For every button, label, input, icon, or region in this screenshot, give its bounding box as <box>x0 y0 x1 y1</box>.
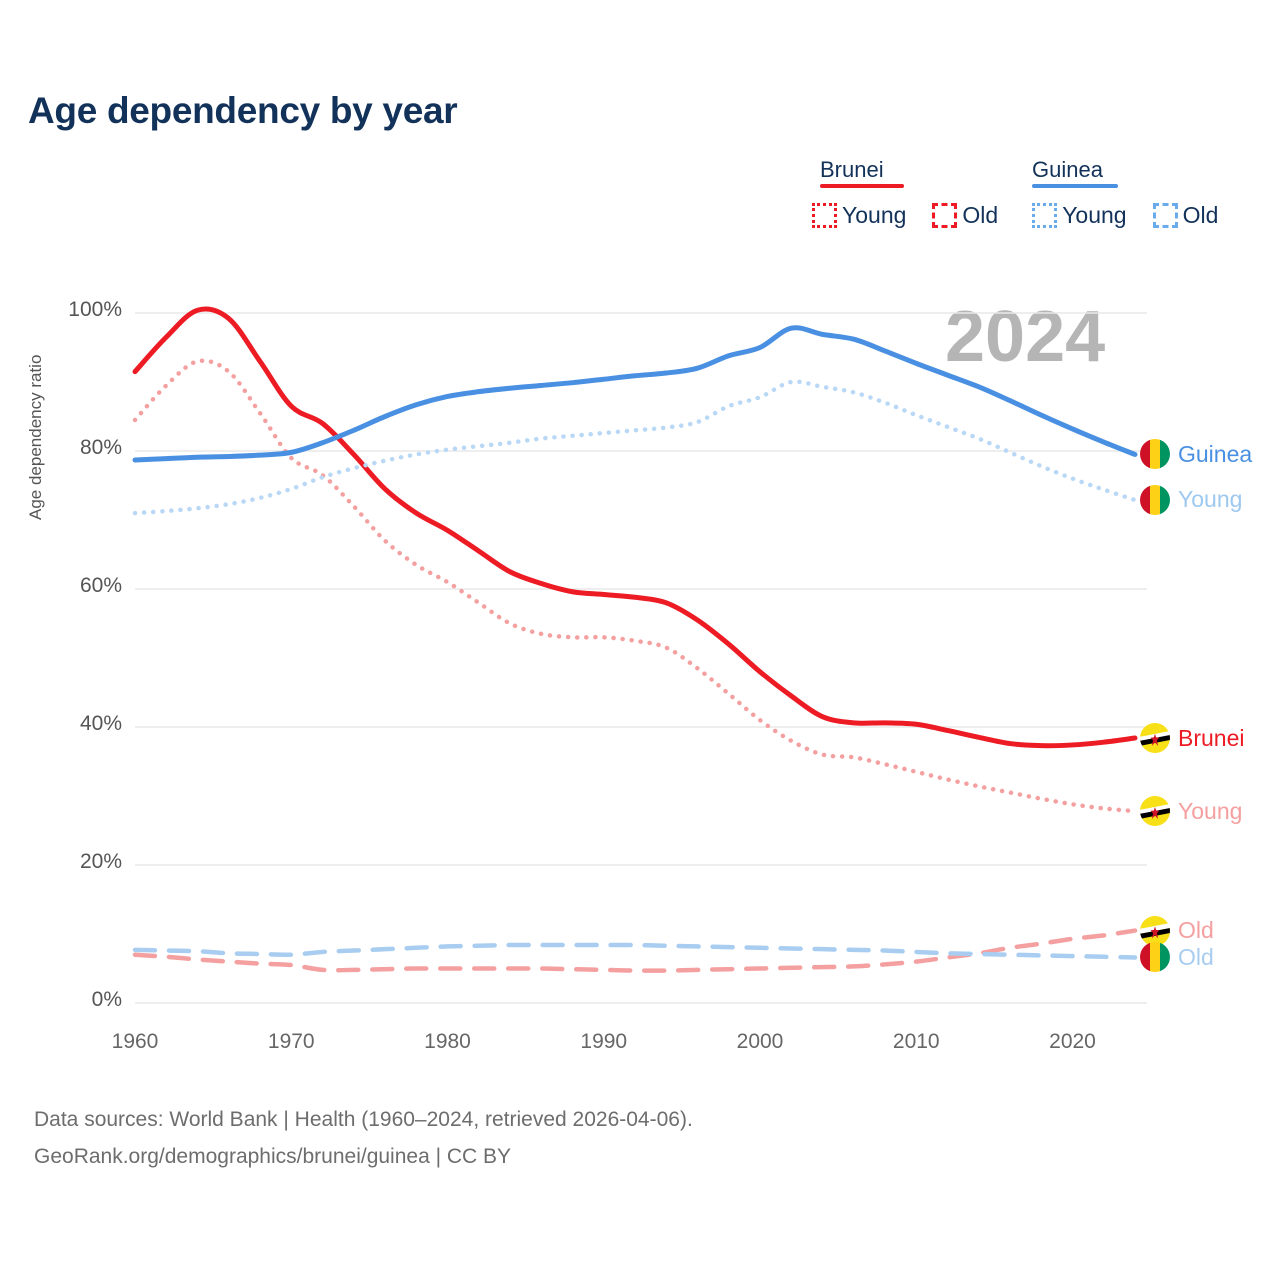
brunei-flag-icon <box>1140 916 1170 946</box>
end-label-guinea-old[interactable]: Old <box>1140 942 1214 972</box>
end-label-brunei-total[interactable]: Brunei <box>1140 723 1244 753</box>
plot-area: Age dependency ratio 2024 0%20%40%60%80%… <box>0 0 1280 1280</box>
footer: Data sources: World Bank | Health (1960–… <box>34 1102 693 1176</box>
chart-canvas <box>0 0 1280 1280</box>
series-line-brunei-old <box>135 931 1135 971</box>
end-label-guinea-total[interactable]: Guinea <box>1140 439 1252 469</box>
guinea-flag-icon <box>1140 942 1170 972</box>
footer-line-2: GeoRank.org/demographics/brunei/guinea |… <box>34 1139 693 1176</box>
series-line-guinea-total <box>135 328 1135 460</box>
end-label-guinea-total-text: Guinea <box>1178 441 1252 468</box>
y-axis-tick: 60% <box>32 574 122 598</box>
end-label-guinea-old-text: Old <box>1178 944 1214 971</box>
end-label-brunei-young[interactable]: Young <box>1140 796 1242 826</box>
x-axis-tick: 1980 <box>388 1030 508 1054</box>
x-axis-tick: 1970 <box>231 1030 351 1054</box>
brunei-flag-icon <box>1140 796 1170 826</box>
y-axis-tick: 40% <box>32 712 122 736</box>
end-label-guinea-young-text: Young <box>1178 486 1242 513</box>
end-label-brunei-total-text: Brunei <box>1178 725 1244 752</box>
y-axis-tick: 0% <box>32 988 122 1012</box>
x-axis-tick: 2000 <box>700 1030 820 1054</box>
guinea-flag-icon <box>1140 439 1170 469</box>
y-axis-tick: 20% <box>32 850 122 874</box>
end-label-guinea-young[interactable]: Young <box>1140 485 1242 515</box>
brunei-flag-icon <box>1140 723 1170 753</box>
x-axis-tick: 2010 <box>856 1030 976 1054</box>
y-axis-tick: 100% <box>32 298 122 322</box>
end-label-brunei-old[interactable]: Old <box>1140 916 1214 946</box>
x-axis-tick: 1960 <box>75 1030 195 1054</box>
x-axis-tick: 2020 <box>1013 1030 1133 1054</box>
end-label-brunei-young-text: Young <box>1178 798 1242 825</box>
y-axis-tick: 80% <box>32 436 122 460</box>
chart-page: Age dependency by year Brunei Guinea You… <box>0 0 1280 1280</box>
footer-line-1: Data sources: World Bank | Health (1960–… <box>34 1102 693 1139</box>
end-label-brunei-old-text: Old <box>1178 917 1214 944</box>
guinea-flag-icon <box>1140 485 1170 515</box>
x-axis-tick: 1990 <box>544 1030 664 1054</box>
